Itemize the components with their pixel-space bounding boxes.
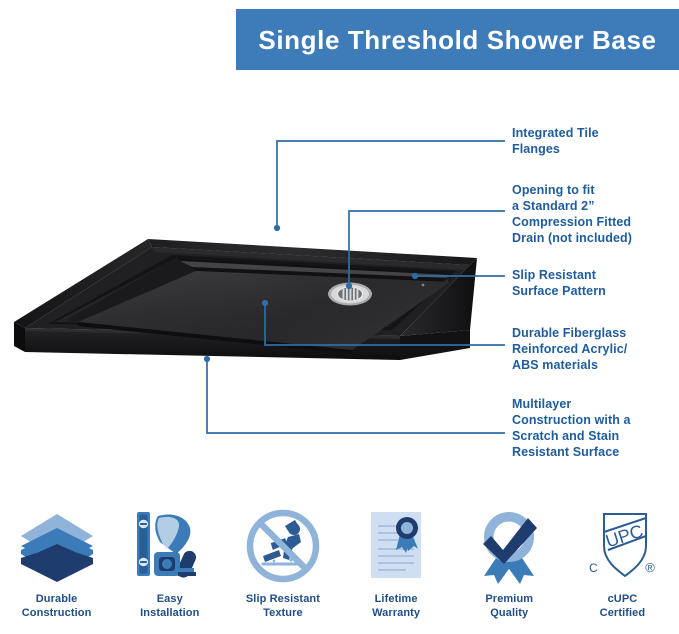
- shower-base-illustration: [0, 218, 505, 370]
- leader-line-integrated-tile-flanges: [277, 141, 505, 228]
- check-rosette-icon: [467, 506, 551, 586]
- upc-registered-mark: ®: [646, 560, 656, 575]
- feature-icon-row: Durable Construction: [0, 506, 679, 634]
- layers-icon: [15, 506, 99, 586]
- callout-durable-fiberglass: Durable Fiberglass Reinforced Acrylic/ A…: [512, 325, 677, 373]
- feature-label: Lifetime Warranty: [372, 592, 420, 620]
- leader-line-multilayer: [207, 359, 505, 433]
- feature-lifetime-warranty: Lifetime Warranty: [340, 506, 453, 634]
- feature-label: Slip Resistant Texture: [246, 592, 320, 620]
- header-banner: Single Threshold Shower Base: [236, 9, 679, 70]
- page-title: Single Threshold Shower Base: [258, 27, 656, 53]
- feature-durable-construction: Durable Construction: [0, 506, 113, 634]
- slip-warning-icon: [241, 506, 325, 586]
- feature-label: cUPC Certified: [600, 592, 646, 620]
- feature-easy-installation: Easy Installation: [113, 506, 226, 634]
- shower-base-graphic: [0, 218, 505, 370]
- callout-slip-resistant-surface-pattern: Slip Resistant Surface Pattern: [512, 267, 677, 299]
- certificate-icon: [354, 506, 438, 586]
- callout-integrated-tile-flanges: Integrated Tile Flanges: [512, 125, 677, 157]
- upc-prefix-text: C: [589, 561, 598, 575]
- tools-icon: [128, 506, 212, 586]
- callout-drain-opening: Opening to fit a Standard 2” Compression…: [512, 182, 677, 246]
- feature-cupc-certified: UPC C ® cUPC Certified: [566, 506, 679, 634]
- callout-multilayer-construction: Multilayer Construction with a Scratch a…: [512, 396, 677, 460]
- feature-label: Premium Quality: [485, 592, 533, 620]
- upc-shield-icon: UPC C ®: [580, 506, 664, 586]
- feature-premium-quality: Premium Quality: [453, 506, 566, 634]
- feature-label: Durable Construction: [22, 592, 92, 620]
- drain-cover-icon: [327, 280, 373, 308]
- upc-shield-text: UPC: [604, 521, 646, 552]
- feature-label: Easy Installation: [140, 592, 199, 620]
- feature-slip-resistant: Slip Resistant Texture: [226, 506, 339, 634]
